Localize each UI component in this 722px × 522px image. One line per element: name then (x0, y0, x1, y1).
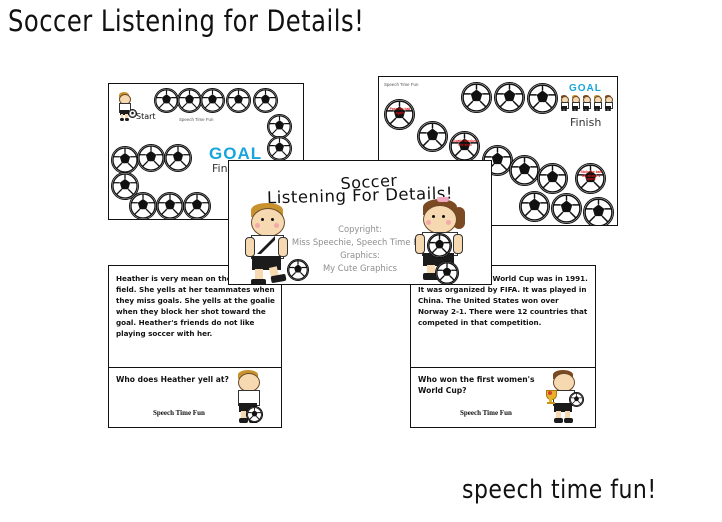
soccer-ball-icon (427, 233, 452, 258)
soccer-ball-icon (156, 192, 184, 220)
kid-figure-icon (581, 95, 591, 112)
board-ball-note: Goalie blocked the shot (452, 140, 478, 147)
question-text: Who does Heather yell at? (116, 374, 241, 385)
soccer-ball-icon (267, 136, 292, 161)
soccer-ball-icon (183, 192, 211, 220)
soccer-ball-icon (164, 144, 192, 172)
soccer-ball-icon (200, 88, 225, 113)
board-start-label: Start (136, 112, 156, 121)
page-title: Soccer Listening for Details! (8, 6, 364, 36)
board-ball-note: Pass the ball again (387, 108, 413, 115)
board-finish-label: Finish (570, 116, 601, 129)
soccer-ball-icon (551, 193, 582, 224)
soccer-ball-icon (246, 406, 263, 423)
kid-figure-icon (603, 95, 613, 112)
kid-figure-icon (570, 95, 580, 112)
card-divider (411, 367, 595, 368)
soccer-ball-icon (509, 155, 540, 186)
card-footer: Speech Time Fun (460, 409, 512, 417)
kid-figure-icon (559, 95, 569, 112)
soccer-ball-icon (177, 88, 202, 113)
question-text: Who won the first women's World Cup? (418, 374, 555, 397)
soccer-ball-icon (226, 88, 251, 113)
kid-figure-icon (592, 95, 602, 112)
soccer-ball-icon (461, 82, 492, 113)
soccer-ball-icon (137, 144, 165, 172)
board-goal-label: GOAL (569, 83, 602, 94)
soccer-ball-icon (537, 163, 568, 194)
soccer-ball-icon (519, 191, 550, 222)
soccer-ball-icon (129, 192, 157, 220)
trophy-icon (545, 390, 556, 406)
soccer-ball-icon (111, 146, 139, 174)
soccer-ball-icon (287, 259, 309, 281)
soccer-ball-icon (154, 88, 179, 113)
girl-soccer-player-icon (413, 199, 477, 283)
page-footer: speech time fun! (462, 478, 657, 504)
soccer-ball-icon (253, 88, 278, 113)
soccer-ball-icon (435, 261, 459, 285)
soccer-ball-icon (494, 82, 525, 113)
boy-soccer-player-icon (229, 370, 269, 426)
board-watermark: Speech Time Fun (179, 117, 213, 122)
soccer-ball-icon (527, 83, 558, 114)
soccer-ball-icon (569, 392, 584, 407)
cover-title-card[interactable]: Soccer Listening For Details! Copyright:… (228, 160, 492, 285)
listening-card-heather[interactable]: Heather is very mean on the soccer field… (108, 265, 282, 428)
board-watermark: Speech Time Fun (384, 82, 418, 87)
boy-soccer-player-icon (243, 203, 303, 283)
girl-soccer-player-icon (543, 370, 587, 426)
board-ball-note: Stole the ball Go ahead 1 space (578, 171, 604, 182)
card-footer: Speech Time Fun (153, 409, 205, 417)
soccer-ball-icon (417, 121, 448, 152)
kids-cheering-group-icon (559, 95, 613, 112)
card-divider (109, 367, 281, 368)
listening-card-world-cup[interactable]: The first women's World Cup was in 1991.… (410, 265, 596, 428)
soccer-ball-icon (583, 197, 614, 226)
